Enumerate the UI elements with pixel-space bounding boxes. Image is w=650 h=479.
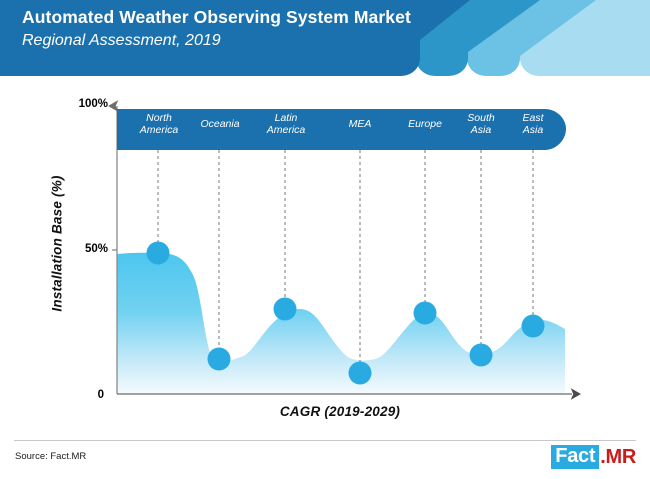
chart-infographic: Automated Weather Observing System Marke… bbox=[0, 0, 650, 479]
data-point-south-asia bbox=[470, 344, 493, 367]
data-point-latin-america bbox=[274, 298, 297, 321]
category-label-south-asia: South Asia bbox=[454, 112, 508, 136]
data-point-east-asia bbox=[522, 315, 545, 338]
connector-lines bbox=[158, 150, 533, 364]
chart-area: North America Oceania Latin America MEA … bbox=[0, 76, 650, 436]
source-text: Source: Fact.MR bbox=[15, 451, 86, 462]
category-label-latin-america: Latin America bbox=[256, 112, 316, 136]
logo-fact-text: Fact bbox=[555, 445, 595, 467]
page-title: Automated Weather Observing System Marke… bbox=[22, 6, 411, 28]
category-label-europe: Europe bbox=[396, 118, 454, 130]
x-axis-title: CAGR (2019-2029) bbox=[210, 404, 470, 419]
factmr-logo: Fact .MR bbox=[551, 445, 636, 469]
footer: Source: Fact.MR Fact .MR bbox=[0, 440, 650, 479]
category-label-oceania: Oceania bbox=[191, 118, 249, 130]
logo-fact-box: Fact bbox=[551, 445, 599, 469]
y-tick-label-0: 0 bbox=[48, 389, 104, 401]
data-point-europe bbox=[414, 302, 437, 325]
category-label-east-asia: East Asia bbox=[507, 112, 559, 136]
logo-mr-text: .MR bbox=[600, 447, 636, 467]
header-banner: Automated Weather Observing System Marke… bbox=[0, 0, 650, 76]
area-series-installation-base bbox=[117, 253, 565, 394]
category-label-north-america: North America bbox=[130, 112, 188, 136]
page-subtitle: Regional Assessment, 2019 bbox=[22, 30, 411, 52]
header-text-block: Automated Weather Observing System Marke… bbox=[22, 6, 411, 52]
y-axis-title: Installation Base (%) bbox=[50, 144, 65, 344]
footer-divider bbox=[14, 440, 636, 441]
data-point-north-america bbox=[147, 242, 170, 265]
data-point-oceania bbox=[208, 348, 231, 371]
y-tick-label-100: 100% bbox=[48, 98, 108, 110]
data-point-mea bbox=[349, 362, 372, 385]
category-label-mea: MEA bbox=[332, 118, 388, 130]
